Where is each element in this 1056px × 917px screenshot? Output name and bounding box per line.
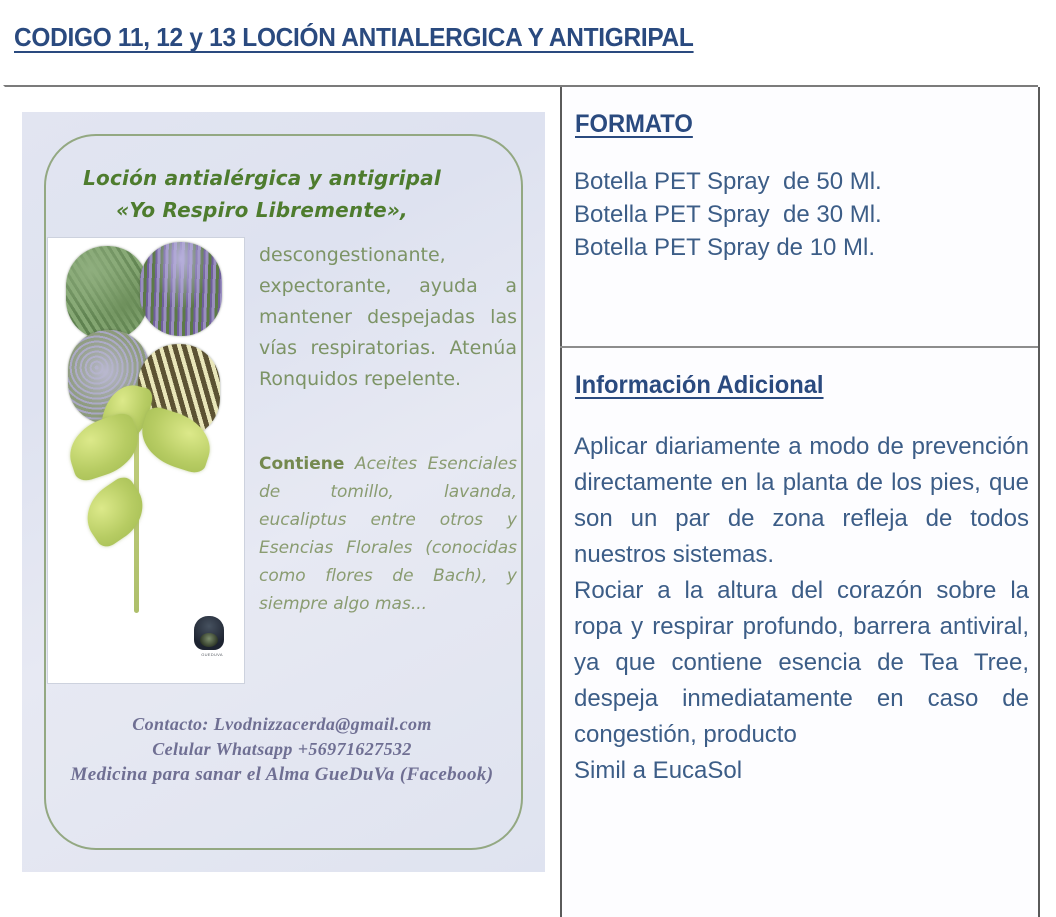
informacion-adicional-heading: Información Adicional: [575, 371, 824, 400]
contact-email: Contacto: Lvodnizzacerda@gmail.com: [32, 712, 532, 737]
table-right-border: [1038, 87, 1040, 917]
list-item: Botella PET Spray de 30 Ml.: [574, 198, 1024, 231]
info-paragraph: Simil a EucaSol: [574, 753, 1029, 789]
label-ingredients-label: Contiene: [259, 454, 344, 474]
product-table: Loción antialérgica y antigripal «Yo Res…: [3, 85, 1038, 915]
formato-cell: FORMATO Botella PET Spray de 50 Ml. Bote…: [562, 87, 1038, 346]
label-title: Loción antialérgica y antigripal «Yo Res…: [62, 162, 462, 226]
contact-facebook: Medicina para sanar el Alma GueDuVa (Fac…: [32, 762, 532, 787]
informacion-adicional-body: Aplicar diariamente a modo de prevención…: [574, 429, 1029, 789]
product-label-cell: Loción antialérgica y antigripal «Yo Res…: [5, 87, 558, 917]
informacion-adicional-cell: Información Adicional Aplicar diariament…: [562, 348, 1038, 917]
label-title-line1: Loción antialérgica y antigripal: [83, 166, 441, 190]
info-paragraph: Aplicar diariamente a modo de prevención…: [574, 429, 1029, 573]
info-paragraph: Rociar a la altura del corazón sobre la …: [574, 573, 1029, 753]
label-contact-block: Contacto: Lvodnizzacerda@gmail.com Celul…: [32, 712, 532, 787]
formato-heading: FORMATO: [575, 110, 693, 139]
page-title: CODIGO 11, 12 y 13 LOCIÓN ANTIALERGICA Y…: [14, 22, 694, 53]
plant-photo-collage: [66, 246, 226, 406]
plant-leaf-icon: [75, 473, 155, 551]
eucalyptus-photo-tile: [66, 246, 148, 340]
label-description-text: descongestionante, expectorante, ayuda a…: [259, 240, 517, 395]
lavender-photo-tile: [140, 242, 222, 336]
list-item: Botella PET Spray de 50 Ml.: [574, 165, 1024, 198]
brand-logo-caption: GUEDUVA: [182, 652, 242, 657]
label-ingredients-text: Aceites Esenciales de tomillo, lavanda, …: [259, 454, 517, 614]
list-item: Botella PET Spray de 10 Ml.: [574, 231, 1024, 264]
formato-list: Botella PET Spray de 50 Ml. Botella PET …: [574, 165, 1024, 264]
product-label-artwork: Loción antialérgica y antigripal «Yo Res…: [22, 112, 545, 872]
label-description: descongestionante, expectorante, ayuda a…: [259, 240, 517, 395]
label-title-line2: «Yo Respiro Libremente»,: [62, 194, 462, 226]
label-ingredients: Contiene Aceites Esenciales de tomillo, …: [259, 450, 517, 618]
brand-logo-icon: [194, 616, 224, 650]
contact-whatsapp: Celular Whatsapp +56971627532: [32, 737, 532, 762]
label-photo-card: GUEDUVA: [47, 237, 245, 684]
